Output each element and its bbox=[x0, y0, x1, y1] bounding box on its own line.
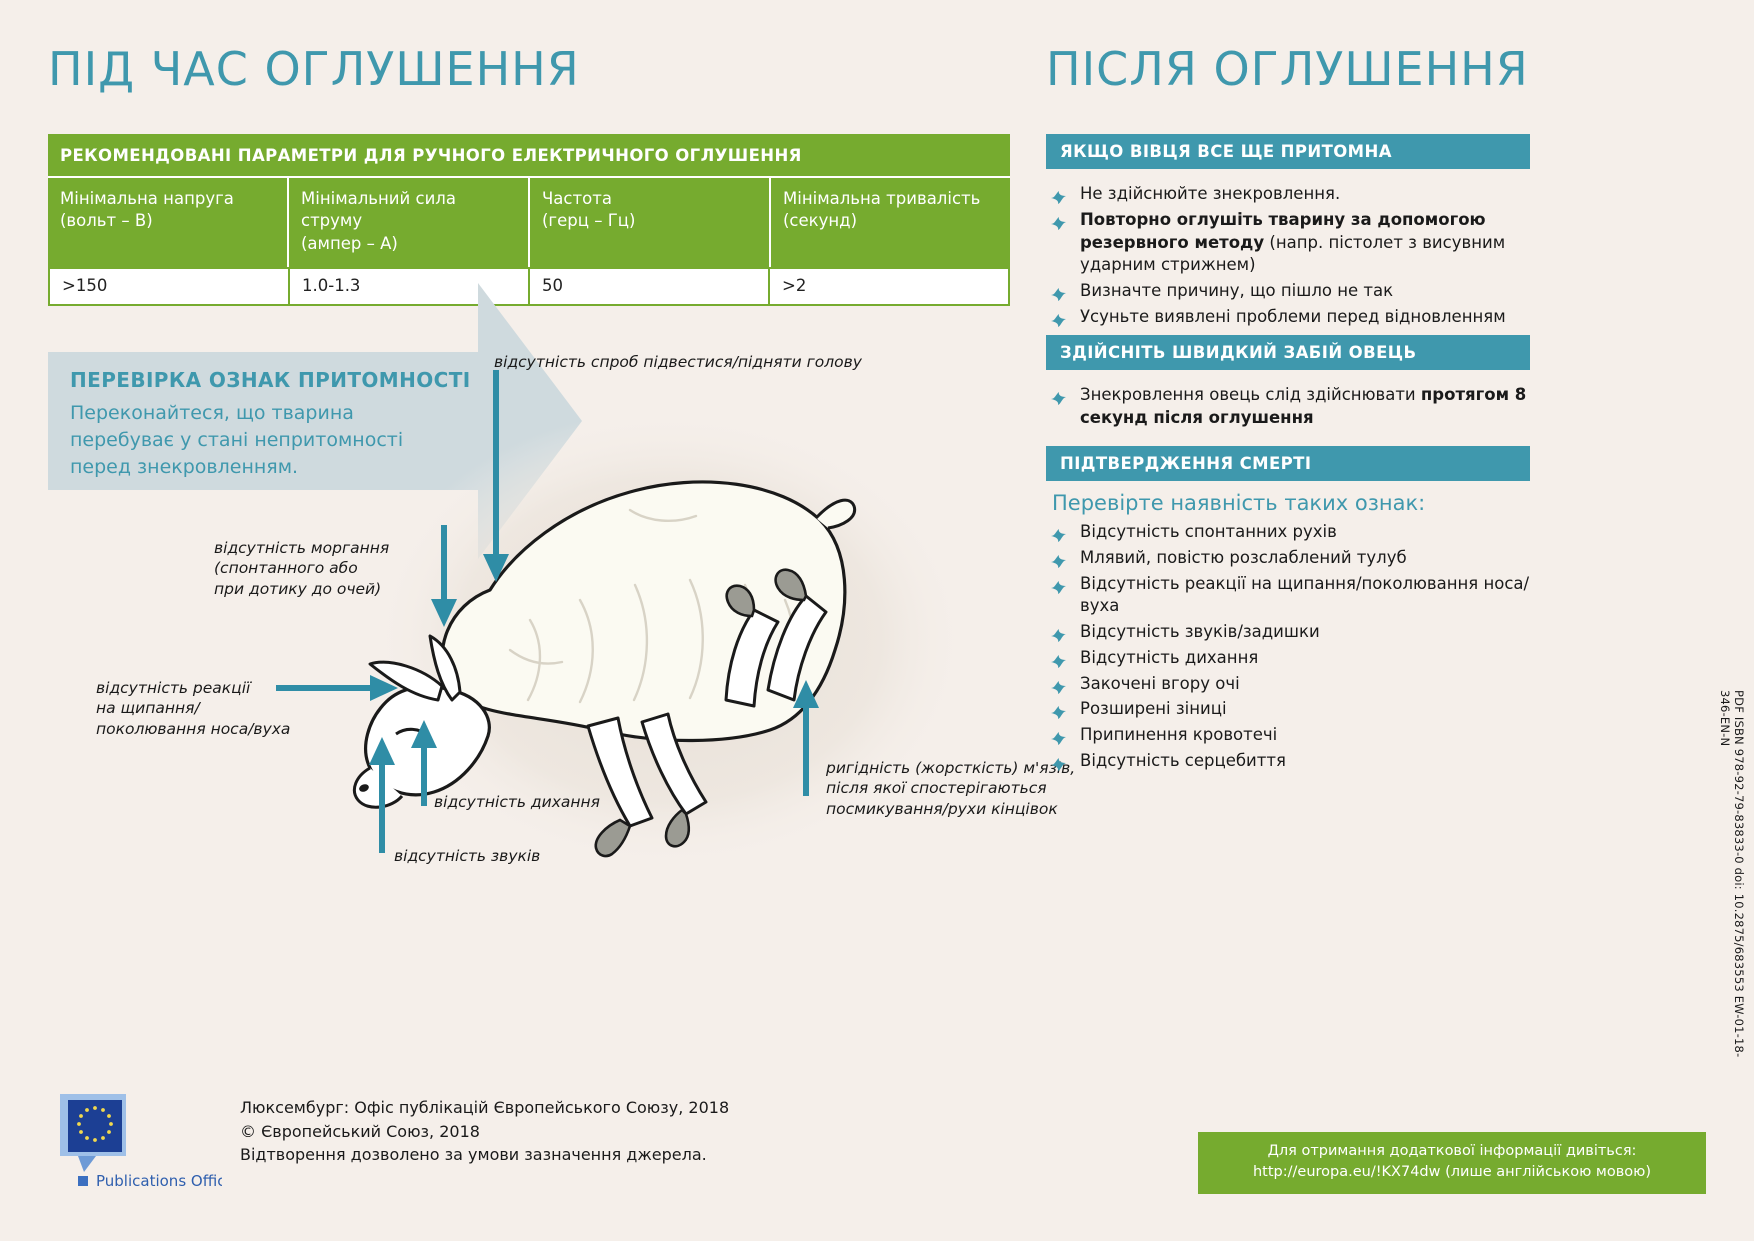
header-line-1: Мінімальна напруга bbox=[60, 188, 275, 210]
table-header-cell-voltage: Мінімальна напруга (вольт – В) bbox=[48, 178, 287, 267]
list-item: Відсутність серцебиття bbox=[1046, 750, 1530, 773]
page-title-after-stunning: ПІСЛЯ ОГЛУШЕННЯ bbox=[1046, 42, 1529, 96]
section-heading: ЯКЩО ВІВЦЯ ВСЕ ЩЕ ПРИТОМНА bbox=[1046, 134, 1530, 169]
header-line-2: (ампер – А) bbox=[301, 233, 516, 255]
section-rapid-slaughter: ЗДІЙСНІТЬ ШВИДКИЙ ЗАБІЙ ОВЕЦЬ Знекровлен… bbox=[1046, 335, 1530, 433]
list-item: Відсутність реакції на щипання/поколюван… bbox=[1046, 573, 1530, 619]
header-line-1: Мінімальна тривалість bbox=[783, 188, 998, 210]
table-header-cell-current: Мінімальний сила струму (ампер – А) bbox=[287, 178, 528, 267]
callout-no-sounds: відсутність звуків bbox=[394, 846, 654, 866]
list-item-text: Припинення кровотечі bbox=[1080, 725, 1277, 744]
leaf-bullet-icon bbox=[1050, 527, 1067, 542]
section-heading: ПІДТВЕРДЖЕННЯ СМЕРТІ bbox=[1046, 446, 1530, 481]
list-item-text: Знекровлення овець слід здійснювати bbox=[1080, 385, 1421, 404]
section-heading: ЗДІЙСНІТЬ ШВИДКИЙ ЗАБІЙ ОВЕЦЬ bbox=[1046, 335, 1530, 370]
arrow-no-sounds bbox=[358, 735, 418, 855]
section-bullet-list: Знекровлення овець слід здійснювати прот… bbox=[1046, 384, 1530, 430]
list-item: Знекровлення овець слід здійснювати прот… bbox=[1046, 384, 1530, 430]
header-line-1: Частота bbox=[542, 188, 757, 210]
list-item: Не здійснюйте знекровлення. bbox=[1046, 183, 1530, 206]
leaf-bullet-icon bbox=[1050, 390, 1067, 405]
list-item-text: Розширені зіниці bbox=[1080, 699, 1227, 718]
leaf-bullet-icon bbox=[1050, 579, 1067, 594]
section-bullet-list: Відсутність спонтанних рухів Млявий, пов… bbox=[1046, 521, 1530, 773]
leaf-bullet-icon bbox=[1050, 704, 1067, 719]
list-item-text: Відсутність дихання bbox=[1080, 648, 1258, 667]
leaf-bullet-icon bbox=[1050, 553, 1067, 568]
table-cell-duration-value: >2 bbox=[768, 269, 1008, 304]
page-title-during-stunning: ПІД ЧАС ОГЛУШЕННЯ bbox=[48, 42, 580, 96]
sheep-illustration bbox=[330, 400, 990, 920]
list-item: Припинення кровотечі bbox=[1046, 724, 1530, 747]
leaf-bullet-icon bbox=[1050, 730, 1067, 745]
table-title: РЕКОМЕНДОВАНІ ПАРАМЕТРИ ДЛЯ РУЧНОГО ЕЛЕК… bbox=[48, 134, 1010, 178]
list-item: Розширені зіниці bbox=[1046, 698, 1530, 721]
list-item: Відсутність дихання bbox=[1046, 647, 1530, 670]
footer-line-1: Люксембург: Офіс публікацій Європейськог… bbox=[240, 1096, 729, 1120]
publications-office-caption: Publications Office bbox=[96, 1172, 222, 1190]
leaf-bullet-icon bbox=[1050, 286, 1067, 301]
list-item-text: Відсутність серцебиття bbox=[1080, 751, 1286, 770]
header-line-1: Мінімальний сила струму bbox=[301, 188, 516, 233]
consciousness-check-title: ПЕРЕВІРКА ОЗНАК ПРИТОМНОСТІ bbox=[70, 368, 471, 392]
more-information-label: Для отримання додаткової інформації диві… bbox=[1210, 1141, 1694, 1162]
left-column: ПІД ЧАС ОГЛУШЕННЯ РЕКОМЕНДОВАНІ ПАРАМЕТР… bbox=[0, 0, 1040, 1241]
header-line-2: (вольт – В) bbox=[60, 210, 275, 232]
callout-no-blinking: відсутність моргання (спонтанного або пр… bbox=[214, 538, 464, 599]
header-line-2: (герц – Гц) bbox=[542, 210, 757, 232]
section-bullet-list: Не здійснюйте знекровлення. Повторно огл… bbox=[1046, 183, 1530, 351]
list-item-text: Закочені вгору очі bbox=[1080, 674, 1240, 693]
table-cell-voltage-value: >150 bbox=[50, 269, 288, 304]
table-header-cell-frequency: Частота (герц – Гц) bbox=[528, 178, 769, 267]
recommended-parameters-table: РЕКОМЕНДОВАНІ ПАРАМЕТРИ ДЛЯ РУЧНОГО ЕЛЕК… bbox=[48, 134, 1010, 306]
footer-line-2: © Європейський Союз, 2018 bbox=[240, 1120, 729, 1144]
right-column: ПІСЛЯ ОГЛУШЕННЯ ЯКЩО ВІВЦЯ ВСЕ ЩЕ ПРИТОМ… bbox=[1040, 0, 1754, 1241]
list-item-text: Відсутність спонтанних рухів bbox=[1080, 522, 1337, 541]
table-header-row: Мінімальна напруга (вольт – В) Мінімальн… bbox=[48, 178, 1010, 267]
leaf-bullet-icon bbox=[1050, 653, 1067, 668]
leaf-bullet-icon bbox=[1050, 312, 1067, 327]
list-item: Відсутність спонтанних рухів bbox=[1046, 521, 1530, 544]
header-line-2: (секунд) bbox=[783, 210, 998, 232]
table-header-cell-duration: Мінімальна тривалість (секунд) bbox=[769, 178, 1010, 267]
callout-no-attempt-to-rise: відсутність спроб підвестися/підняти гол… bbox=[494, 352, 1014, 372]
more-information-box[interactable]: Для отримання додаткової інформації диві… bbox=[1198, 1132, 1706, 1194]
callout-no-breathing: відсутність дихання bbox=[434, 792, 694, 812]
list-item: Визначте причину, що пішло не так bbox=[1046, 280, 1530, 303]
leaf-bullet-icon bbox=[1050, 679, 1067, 694]
eu-publications-office-logo: Publications Office bbox=[52, 1090, 222, 1200]
section-subtitle: Перевірте наявність таких ознак: bbox=[1052, 491, 1530, 515]
section-confirmation-of-death: ПІДТВЕРДЖЕННЯ СМЕРТІ Перевірте наявність… bbox=[1046, 446, 1530, 776]
list-item: Закочені вгору очі bbox=[1046, 673, 1530, 696]
list-item-text: Млявий, повістю розслаблений тулуб bbox=[1080, 548, 1407, 567]
list-item: Відсутність звуків/задишки bbox=[1046, 621, 1530, 644]
leaf-bullet-icon bbox=[1050, 627, 1067, 642]
list-item-text: Визначте причину, що пішло не так bbox=[1080, 281, 1393, 300]
list-item-text: Не здійснюйте знекровлення. bbox=[1080, 184, 1340, 203]
leaf-bullet-icon bbox=[1050, 756, 1067, 771]
list-item: Млявий, повістю розслаблений тулуб bbox=[1046, 547, 1530, 570]
leaf-bullet-icon bbox=[1050, 215, 1067, 230]
footer-credit: Люксембург: Офіс публікацій Європейськог… bbox=[240, 1096, 729, 1167]
list-item: Повторно оглушіть тварину за допомогою р… bbox=[1046, 209, 1530, 277]
isbn-vertical-text: PDF ISBN 978-92-79-83833-0 doi: 10.2875/… bbox=[1718, 690, 1746, 1060]
section-if-sheep-still-conscious: ЯКЩО ВІВЦЯ ВСЕ ЩЕ ПРИТОМНА Не здійснюйте… bbox=[1046, 134, 1530, 354]
list-item-text: Відсутність звуків/задишки bbox=[1080, 622, 1320, 641]
footer-line-3: Відтворення дозволено за умови зазначенн… bbox=[240, 1143, 729, 1167]
more-information-link[interactable]: http://europa.eu/!KX74dw (лише англійськ… bbox=[1210, 1162, 1694, 1183]
callout-no-pinch-reaction: відсутність реакції на щипання/ поколюва… bbox=[96, 678, 346, 739]
list-item-text: Відсутність реакції на щипання/поколюван… bbox=[1080, 574, 1529, 616]
leaf-bullet-icon bbox=[1050, 189, 1067, 204]
